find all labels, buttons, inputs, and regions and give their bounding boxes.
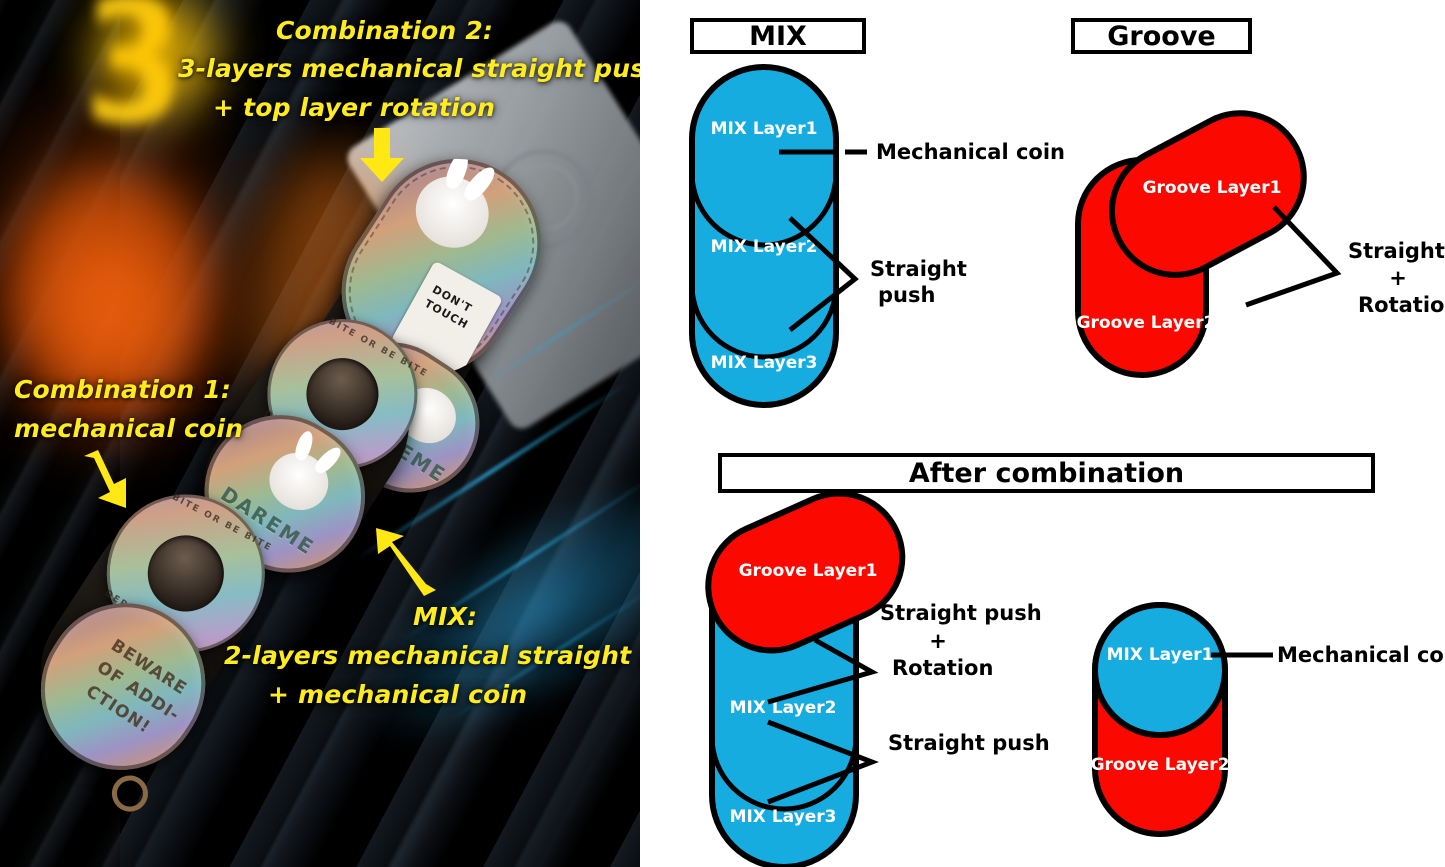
mix-layer3-label: MIX Layer3 — [711, 353, 818, 373]
mix-diagram: MIX Layer1 MIX Layer2 MIX Layer3 Mechani… — [640, 0, 1060, 440]
annotation-combination2-line2: + top layer rotation — [213, 93, 495, 122]
mix-straight-push-label-2: push — [878, 283, 935, 307]
mix-layer2-label: MIX Layer2 — [711, 237, 818, 257]
arrow-mix — [370, 528, 442, 598]
annotation-mix-title: MIX: — [413, 602, 477, 631]
annotation-mix-line2: + mechanical coin — [268, 680, 527, 709]
groove-callout-line2: + — [1389, 266, 1407, 290]
screenshot-root: 3 DON'T TOU — [0, 0, 1445, 867]
ac-right-layer2-label: Groove Layer2 — [1091, 755, 1230, 775]
after-combination-left-diagram: Groove Layer1 MIX Layer2 MIX Layer3 Stra… — [640, 440, 1060, 867]
arrow-combination1 — [78, 450, 136, 512]
mix-mechanical-coin-label: Mechanical coin — [876, 140, 1065, 164]
annotation-combination2-line1: 3-layers mechanical straight push — [178, 54, 640, 83]
groove-callout-line1: Straight push — [1348, 239, 1445, 263]
ac-right-mix-layer1 — [1095, 605, 1225, 735]
bokeh-deep-orange — [52, 250, 172, 380]
toy1-keyring-loop — [105, 769, 155, 819]
diagram-panel: MIX MIX Layer1 MIX Layer2 MIX Layer3 Mec… — [640, 0, 1445, 867]
ac-left-rot-line3: Rotation — [892, 656, 993, 680]
groove-callout-line3: Rotation — [1358, 293, 1445, 317]
ac-left-layer2-label: MIX Layer2 — [730, 698, 837, 718]
groove-layer1-label: Groove Layer1 — [1143, 178, 1282, 198]
ac-right-mechanical-coin-label: Mechanical coin — [1277, 643, 1445, 667]
annotation-combination1-title: Combination 1: — [14, 375, 231, 404]
ac-left-layer3-label: MIX Layer3 — [730, 807, 837, 827]
ac-left-rot-line1: Straight push — [880, 601, 1042, 625]
ac-left-push-label: Straight push — [888, 731, 1050, 755]
groove-diagram: Groove Layer1 Groove Layer2 Straight pus… — [1050, 0, 1445, 440]
mix-straight-push-label-1: Straight — [870, 257, 967, 281]
annotation-mix-line1: 2-layers mechanical straight push — [224, 641, 640, 670]
toy2-bunny-ear-right — [312, 444, 345, 477]
annotation-combination1-line1: mechanical coin — [14, 414, 243, 443]
groove-layer2-label: Groove Layer2 — [1077, 313, 1216, 333]
ac-left-rot-line2: + — [929, 629, 947, 653]
arrow-combination2 — [352, 128, 412, 184]
ac-right-layer1-label: MIX Layer1 — [1107, 645, 1214, 665]
mix-layer1-label: MIX Layer1 — [711, 119, 818, 139]
after-combination-right-diagram: MIX Layer1 Groove Layer2 Mechanical coin — [1055, 440, 1445, 867]
product-photo-panel: 3 DON'T TOU — [0, 0, 640, 867]
ac-left-layer1-label: Groove Layer1 — [739, 561, 878, 581]
annotation-combination2-title: Combination 2: — [276, 16, 493, 45]
